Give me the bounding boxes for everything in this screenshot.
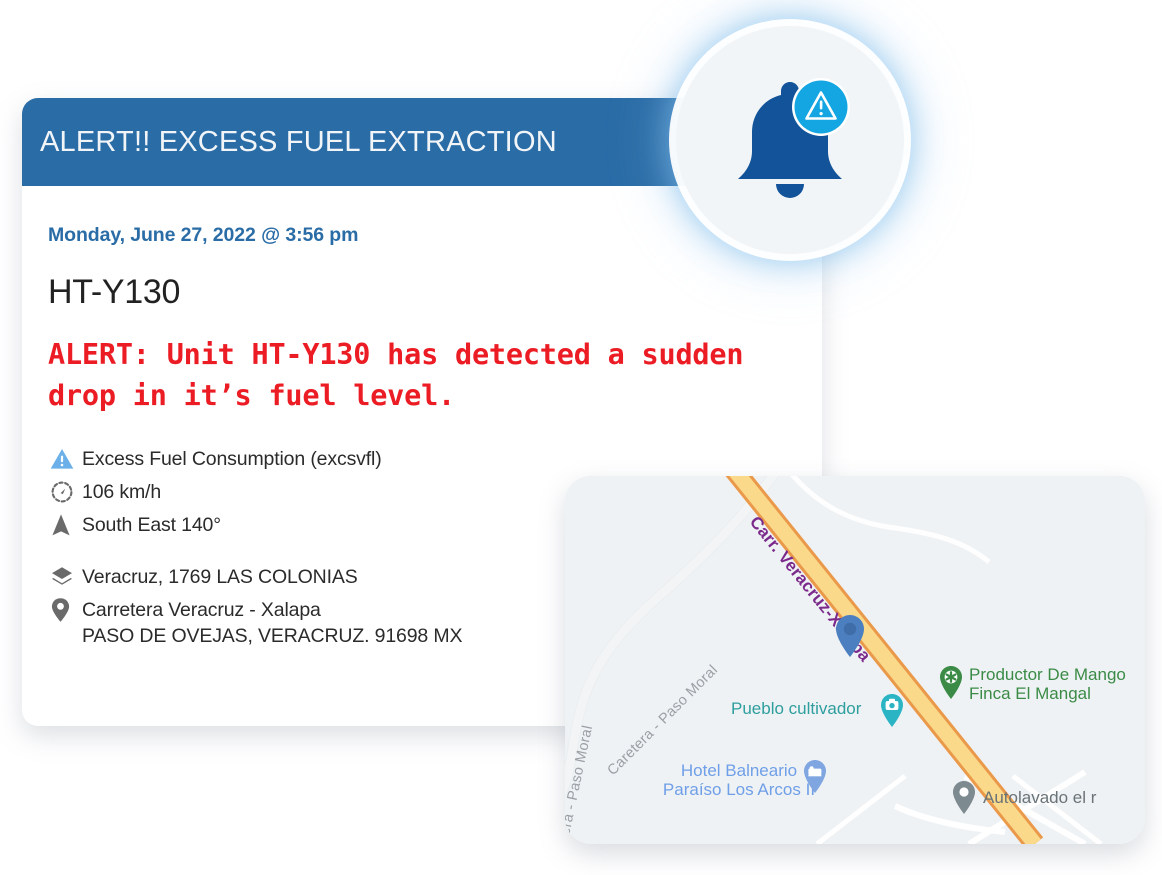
poi-label-autolavado: Autolavado el r [983,788,1097,807]
warning-triangle-icon [48,446,82,472]
detail-text-heading: South East 140° [82,512,221,538]
speedometer-icon [48,479,82,505]
detail-text-region: Veracruz, 1769 LAS COLONIAS [82,564,358,590]
layers-icon [48,564,82,590]
poi-label-hotel-line2: Paraíso Los Arcos II [663,780,815,799]
detail-row-event: Excess Fuel Consumption (excsvfl) [48,446,796,472]
address-line-1: Carretera Veracruz - Xalapa [82,597,462,623]
poi-label-mango-line2: Finca El Mangal [969,684,1091,703]
map-pin-icon [48,597,82,623]
alert-timestamp: Monday, June 27, 2022 @ 3:56 pm [48,224,796,247]
navigation-arrow-icon [48,512,82,538]
alert-message: ALERT: Unit HT-Y130 has detected a sudde… [48,334,748,416]
detail-text-address: Carretera Veracruz - Xalapa PASO DE OVEJ… [82,597,462,649]
detail-text-speed: 106 km/h [82,479,161,505]
page-title: ALERT!! EXCESS FUEL EXTRACTION [40,126,557,159]
alert-bell-badge [676,26,904,254]
poi-label-mango-line1: Productor De Mango [969,665,1126,684]
location-map-card[interactable]: Caretera - Paso Moral era - Paso Moral C… [565,476,1145,844]
unit-id: HT-Y130 [48,273,796,312]
poi-label-pueblo: Pueblo cultivador [731,699,862,718]
address-line-2: PASO DE OVEJAS, VERACRUZ. 91698 MX [82,623,462,649]
detail-text-event: Excess Fuel Consumption (excsvfl) [82,446,382,472]
warning-triangle-icon [792,78,850,136]
poi-label-hotel-line1: Hotel Balneario [681,761,797,780]
